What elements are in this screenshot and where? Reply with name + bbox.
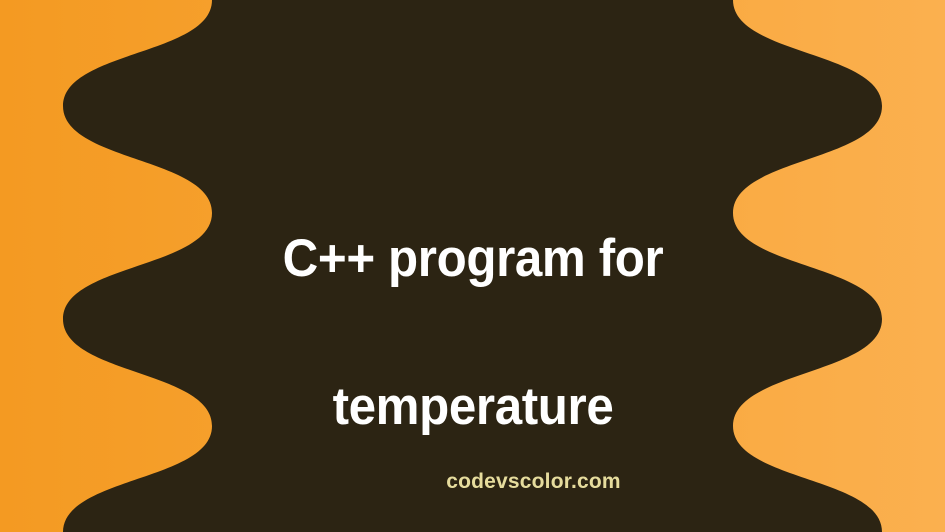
title-line-3: conversion (212, 518, 733, 532)
title-line-2: temperature (212, 370, 733, 444)
banner-card: C++ program for temperature conversion c… (0, 0, 945, 532)
site-watermark: codevscolor.com (0, 470, 945, 494)
banner-content: C++ program for temperature conversion c… (0, 0, 945, 532)
title-line-1: C++ program for (212, 222, 733, 296)
